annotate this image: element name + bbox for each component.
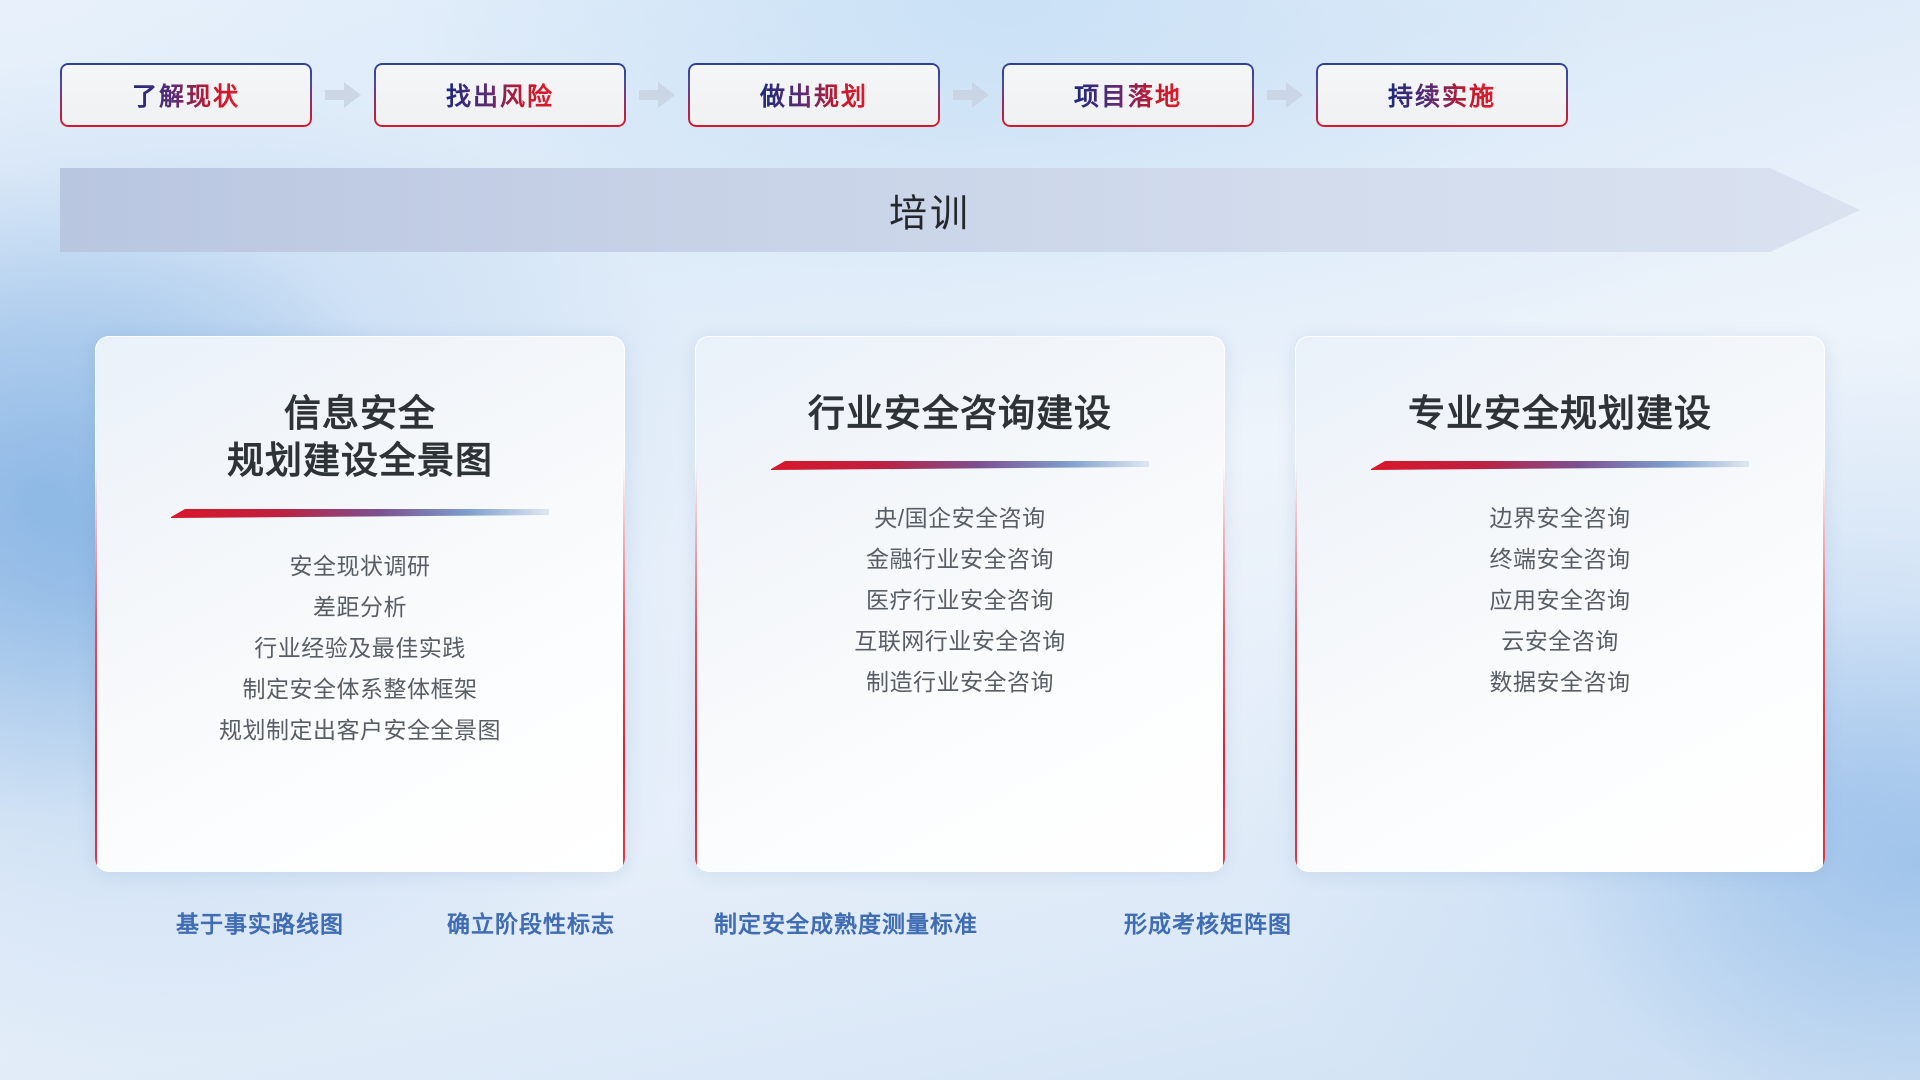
list-item: 边界安全咨询 <box>1490 498 1631 539</box>
card-divider <box>771 461 1149 470</box>
step-box-3[interactable]: 做出规划 <box>688 63 940 127</box>
step-box-1[interactable]: 了解现状 <box>60 63 312 127</box>
list-item: 终端安全咨询 <box>1490 539 1631 580</box>
chevron-right-arrow-icon <box>325 81 361 109</box>
card-column-3: 专业安全规划建设 <box>1260 336 1860 876</box>
banner-label: 培训 <box>60 183 1860 238</box>
slide-canvas: 了解现状 找出风险 做出规划 项目落地 持续实施 <box>0 0 1920 1080</box>
card-divider <box>171 509 549 518</box>
list-item: 安全现状调研 <box>219 546 501 587</box>
gradient-rule-icon <box>771 461 1149 470</box>
list-item: 互联网行业安全咨询 <box>854 621 1066 662</box>
chevron-right-arrow-icon <box>953 81 989 109</box>
training-banner: 培训 <box>60 168 1860 252</box>
list-item: 制造行业安全咨询 <box>854 662 1066 703</box>
card-title: 专业安全规划建设 <box>1408 390 1712 437</box>
step-box-5[interactable]: 持续实施 <box>1316 63 1568 127</box>
card-2[interactable]: 行业安全咨询建设 <box>695 336 1225 872</box>
card-list: 安全现状调研 差距分析 行业经验及最佳实践 制定安全体系整体框架 规划制定出客户… <box>219 546 501 751</box>
list-item: 规划制定出客户安全全景图 <box>219 710 501 751</box>
footnote-label-4: 形成考核矩阵图 <box>1124 905 1292 939</box>
footnote-label-2: 确立阶段性标志 <box>447 905 615 939</box>
list-item: 行业经验及最佳实践 <box>219 628 501 669</box>
card-divider <box>1371 461 1749 470</box>
list-item: 数据安全咨询 <box>1490 662 1631 703</box>
gradient-rule-icon <box>171 509 549 518</box>
list-item: 云安全咨询 <box>1490 621 1631 662</box>
footnote-label-1: 基于事实路线图 <box>176 905 344 939</box>
card-list: 央/国企安全咨询 金融行业安全咨询 医疗行业安全咨询 互联网行业安全咨询 制造行… <box>854 498 1066 703</box>
step-box-2[interactable]: 找出风险 <box>374 63 626 127</box>
list-item: 医疗行业安全咨询 <box>854 580 1066 621</box>
step-label: 了解现状 <box>132 77 240 113</box>
gradient-rule-icon <box>1371 461 1749 470</box>
step-label: 项目落地 <box>1074 77 1182 113</box>
step-label: 持续实施 <box>1388 77 1496 113</box>
card-title: 信息安全 规划建设全景图 <box>227 390 493 485</box>
chevron-right-arrow-icon <box>1267 81 1303 109</box>
list-item: 差距分析 <box>219 587 501 628</box>
step-label: 找出风险 <box>446 77 554 113</box>
card-list: 边界安全咨询 终端安全咨询 应用安全咨询 云安全咨询 数据安全咨询 <box>1490 498 1631 703</box>
list-item: 应用安全咨询 <box>1490 580 1631 621</box>
card-column-1: 信息安全 规划建设全景图 <box>60 336 660 876</box>
card-column-2: 行业安全咨询建设 <box>660 336 1260 876</box>
process-steps: 了解现状 找出风险 做出规划 项目落地 持续实施 <box>60 62 1860 128</box>
list-item: 央/国企安全咨询 <box>854 498 1066 539</box>
list-item: 制定安全体系整体框架 <box>219 669 501 710</box>
footnote-row: 基于事实路线图 确立阶段性标志 制定安全成熟度测量标准 形成考核矩阵图 <box>60 905 1860 949</box>
list-item: 金融行业安全咨询 <box>854 539 1066 580</box>
card-row: 信息安全 规划建设全景图 <box>60 336 1860 876</box>
chevron-right-arrow-icon <box>639 81 675 109</box>
step-box-4[interactable]: 项目落地 <box>1002 63 1254 127</box>
step-label: 做出规划 <box>760 77 868 113</box>
card-3[interactable]: 专业安全规划建设 <box>1295 336 1825 872</box>
card-title: 行业安全咨询建设 <box>808 390 1112 437</box>
card-1[interactable]: 信息安全 规划建设全景图 <box>95 336 625 872</box>
footnote-label-3: 制定安全成熟度测量标准 <box>714 905 978 939</box>
